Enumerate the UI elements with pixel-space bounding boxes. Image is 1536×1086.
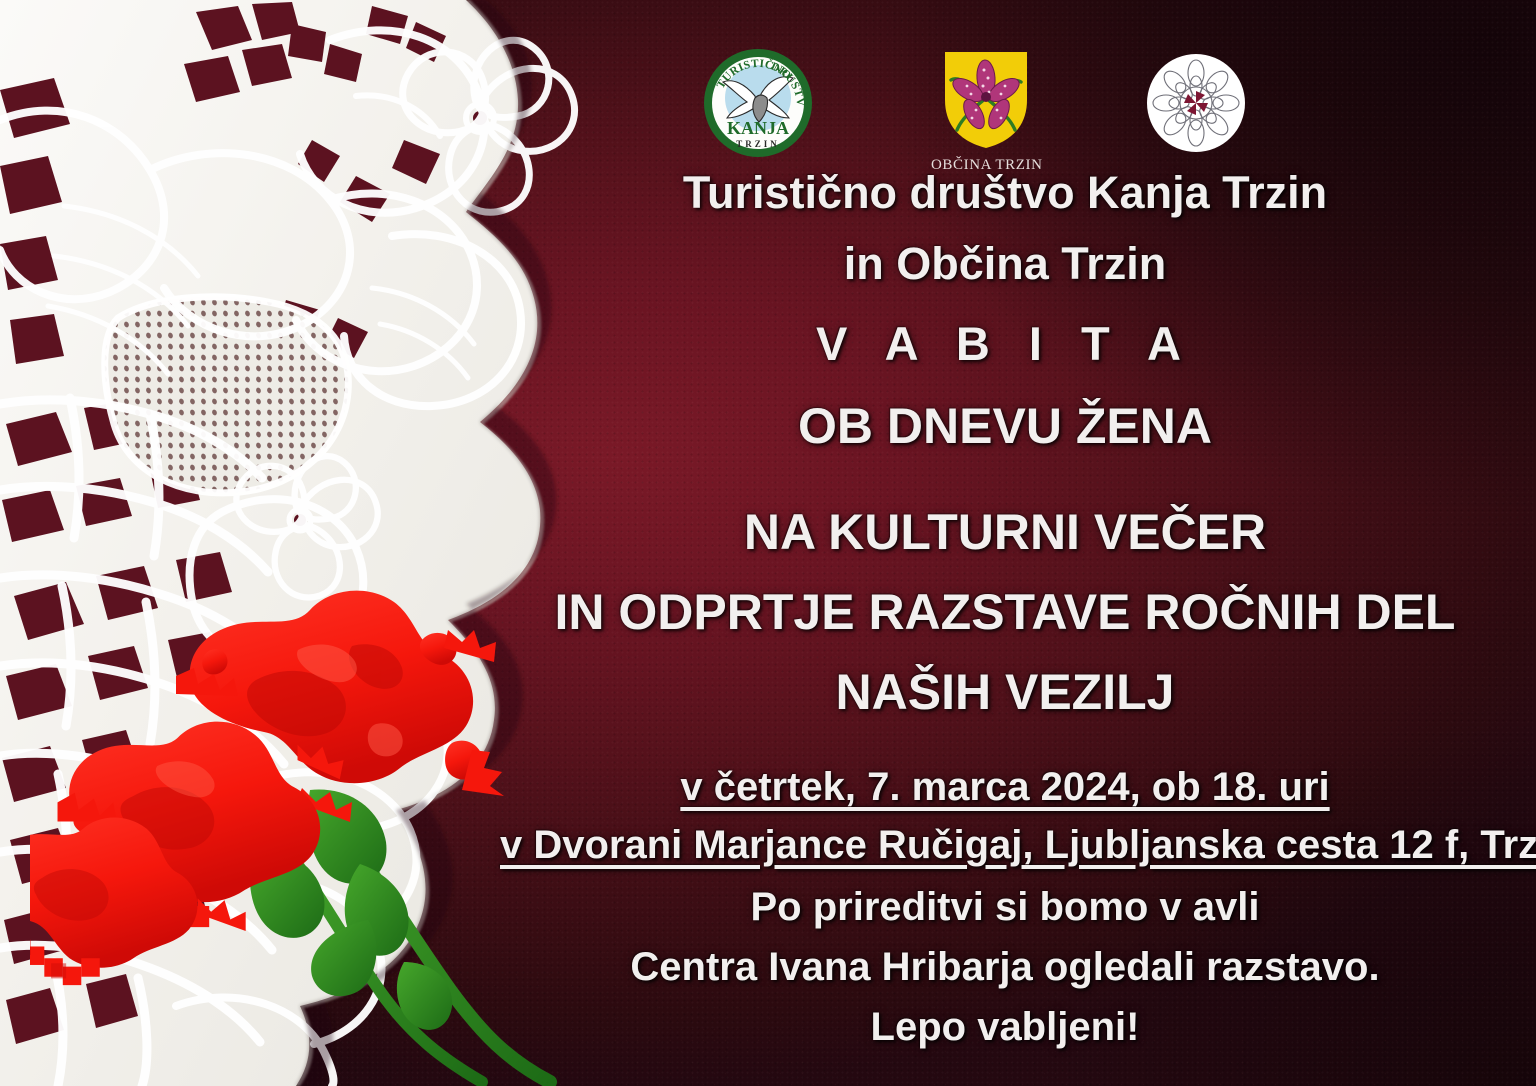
note-line-2: Centra Ivana Hribarja ogledali razstavo.: [500, 947, 1510, 987]
invitation-text-block: Turistično društvo Kanja Trzin in Občina…: [500, 166, 1510, 1047]
occasion-line: OB DNEVU ŽENA: [500, 401, 1510, 451]
organizer-line-2: in Občina Trzin: [500, 241, 1510, 286]
note-line-1: Po prireditvi si bomo v avli: [500, 887, 1510, 927]
event-datetime: v četrtek, 7. marca 2024, ob 18. uri: [500, 767, 1510, 807]
logo-kanja-sub: TRZIN: [736, 139, 780, 149]
event-line-1: NA KULTURNI VEČER: [500, 507, 1510, 557]
logo-vezilje-rosette: [1146, 53, 1246, 153]
event-line-2: IN ODPRTJE RAZSTAVE ROČNIH DEL: [500, 587, 1510, 637]
logo-kanja-name: KANJA: [727, 118, 789, 138]
closing-line: Lepo vabljeni!: [500, 1007, 1510, 1047]
event-venue: v Dvorani Marjance Ručigaj, Ljubljanska …: [500, 825, 1510, 865]
logo-kanja-trzin: TURISTIČNO DRUŠTVO KANJA TRZIN: [703, 48, 813, 158]
event-line-3: NAŠIH VEZILJ: [500, 667, 1510, 717]
logo-row: TURISTIČNO DRUŠTVO KANJA TRZIN: [690, 48, 1290, 168]
organizer-line-1: Turistično društvo Kanja Trzin: [500, 166, 1510, 215]
invitation-poster: TURISTIČNO DRUŠTVO KANJA TRZIN: [0, 0, 1536, 1086]
logo-obcina-trzin: OBČINA TRZIN: [931, 48, 1041, 172]
invite-verb: V A B I T A: [500, 320, 1510, 367]
